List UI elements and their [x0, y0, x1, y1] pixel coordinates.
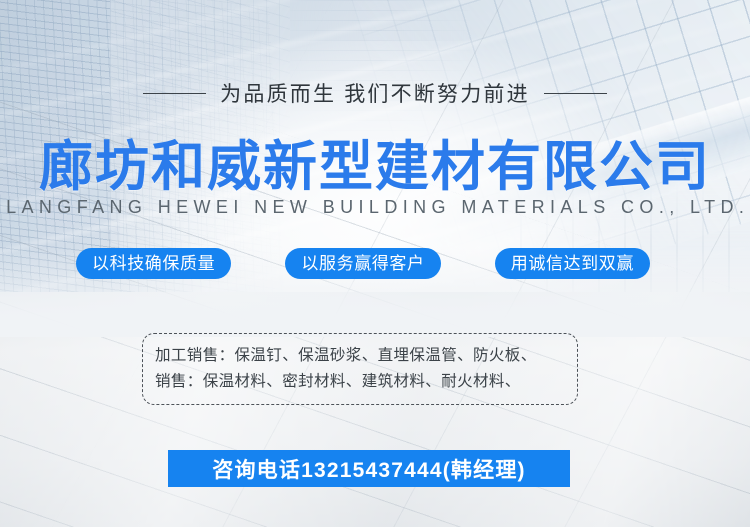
tagline-rule-left — [143, 93, 206, 94]
company-banner: 为品质而生 我们不断努力前进 廊坊和威新型建材有限公司 LANGFANG HEW… — [0, 0, 750, 527]
tagline-rule-right — [544, 93, 607, 94]
tagline-row: 为品质而生 我们不断努力前进 — [0, 78, 750, 108]
slogan-badge-quality[interactable]: 以科技确保质量 — [76, 248, 231, 279]
slogan-badge-group: 以科技确保质量 以服务赢得客户 用诚信达到双赢 — [76, 248, 650, 279]
company-name-english: LANGFANG HEWEI NEW BUILDING MATERIALS CO… — [0, 197, 750, 218]
business-scope-line-processing: 加工销售：保温钉、保温砂浆、直埋保温管、防火板、 — [155, 343, 565, 369]
tagline-text: 为品质而生 我们不断努力前进 — [220, 78, 530, 108]
banner-content: 为品质而生 我们不断努力前进 廊坊和威新型建材有限公司 LANGFANG HEW… — [0, 0, 750, 527]
contact-phone-bar[interactable]: 咨询电话13215437444(韩经理) — [168, 450, 570, 487]
slogan-badge-service[interactable]: 以服务赢得客户 — [285, 248, 440, 279]
company-name-chinese: 廊坊和威新型建材有限公司 — [0, 122, 750, 201]
business-scope-line-sales: 销售：保温材料、密封材料、建筑材料、耐火材料、 — [155, 369, 565, 395]
contact-phone-text: 咨询电话13215437444(韩经理) — [212, 454, 525, 484]
business-scope-box: 加工销售：保温钉、保温砂浆、直埋保温管、防火板、 销售：保温材料、密封材料、建筑… — [142, 333, 578, 405]
slogan-badge-integrity[interactable]: 用诚信达到双赢 — [495, 248, 650, 279]
